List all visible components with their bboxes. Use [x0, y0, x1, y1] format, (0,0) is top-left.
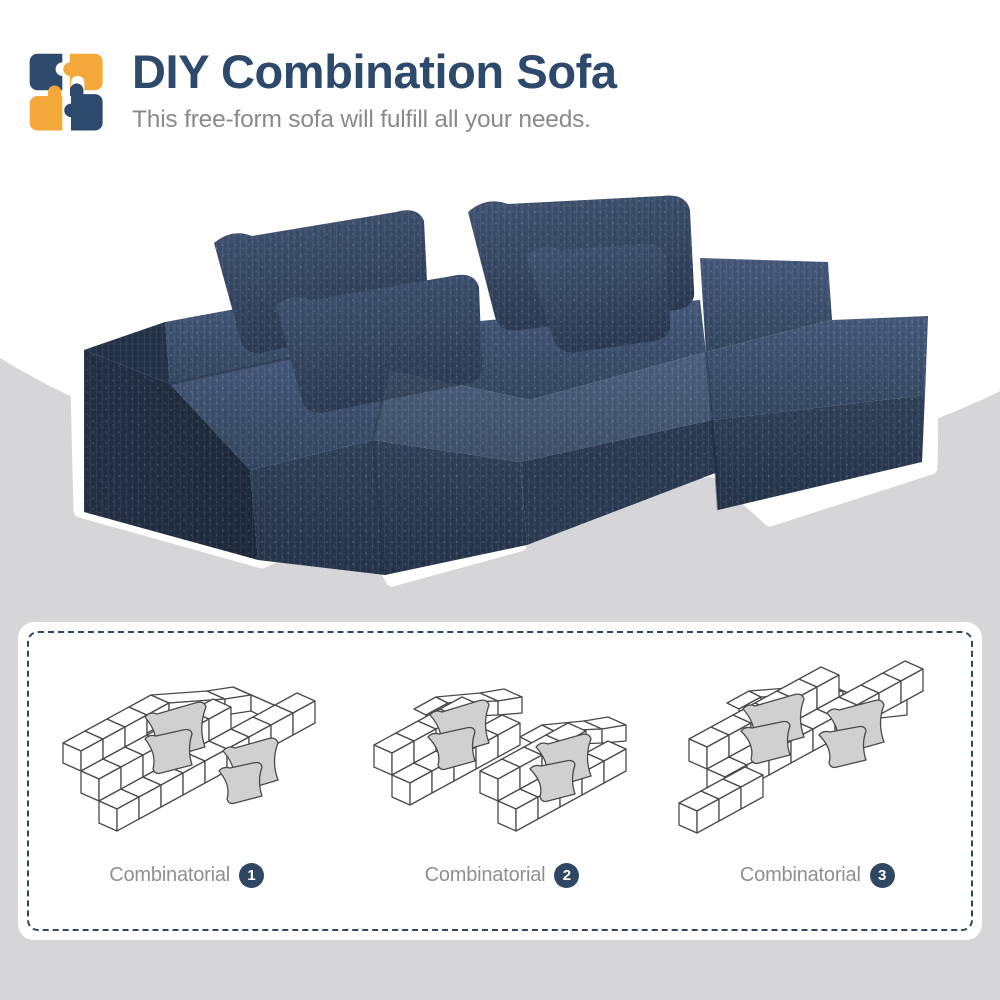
combination-3-badge: 3	[870, 863, 895, 888]
puzzle-four-piece-icon	[22, 48, 118, 144]
product-infographic-page: DIY Combination Sofa This free-form sofa…	[0, 0, 1000, 1000]
combination-3-caption: Combinatorial 3	[740, 863, 895, 888]
header-text-block: DIY Combination Sofa This free-form sofa…	[132, 46, 617, 134]
page-header: DIY Combination Sofa This free-form sofa…	[0, 0, 1000, 170]
combination-2-label: Combinatorial	[425, 864, 546, 887]
combination-3-label: Combinatorial	[740, 864, 861, 887]
combination-1-caption: Combinatorial 1	[109, 863, 264, 888]
combinations-card: Combinatorial 1	[18, 622, 982, 940]
combination-option-2[interactable]: Combinatorial 2	[344, 633, 659, 933]
staggered-offset-sofa-diagram	[352, 651, 652, 857]
combination-1-label: Combinatorial	[109, 864, 230, 887]
combination-1-badge: 1	[239, 863, 264, 888]
page-title: DIY Combination Sofa	[132, 48, 617, 97]
combinations-dashed-frame: Combinatorial 1	[27, 631, 973, 931]
hero-section: DIY Combination Sofa This free-form sofa…	[0, 0, 1000, 618]
combinations-row: Combinatorial 1	[29, 633, 975, 933]
combination-2-caption: Combinatorial 2	[425, 863, 580, 888]
page-subtitle: This free-form sofa will fulfill all you…	[132, 106, 617, 134]
combination-option-3[interactable]: Combinatorial 3	[660, 633, 975, 933]
combination-2-badge: 2	[554, 863, 579, 888]
sofa-with-detached-ottoman-diagram	[667, 651, 967, 857]
straight-long-sofa-diagram	[37, 651, 337, 857]
combination-option-1[interactable]: Combinatorial 1	[29, 633, 344, 933]
